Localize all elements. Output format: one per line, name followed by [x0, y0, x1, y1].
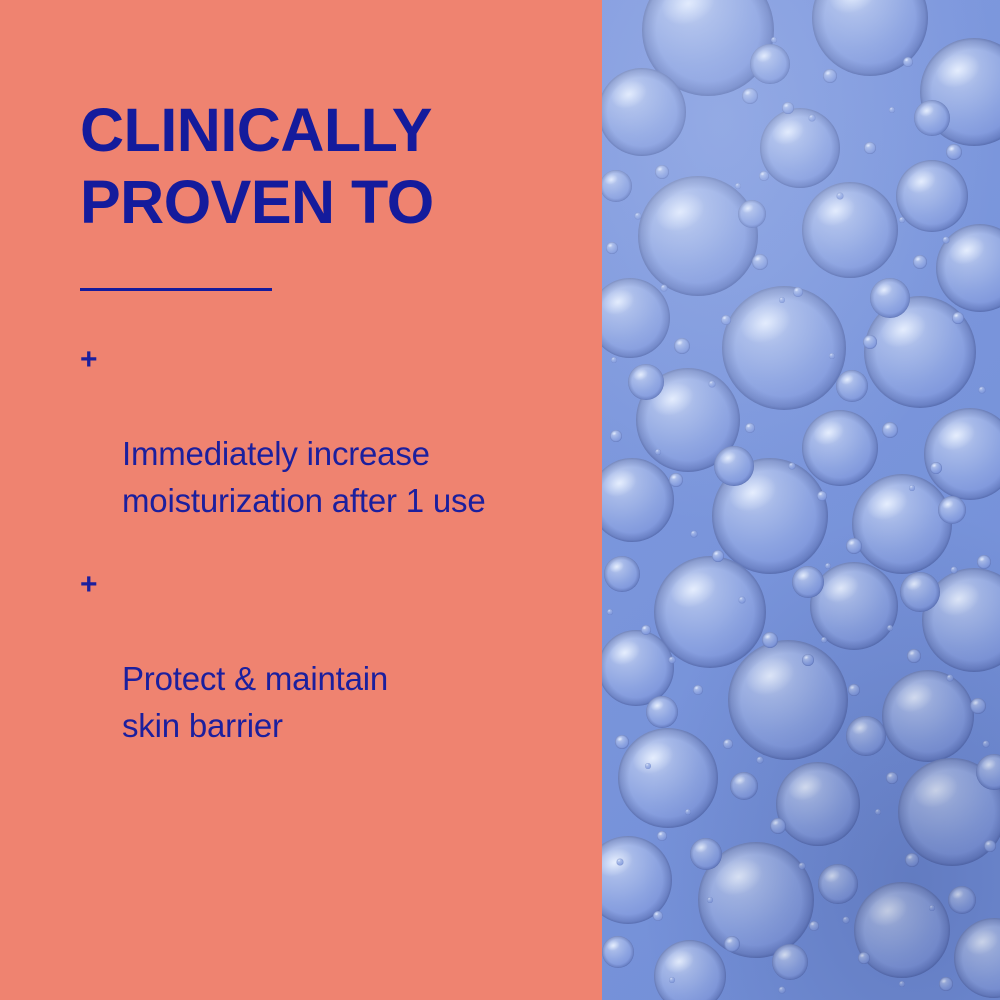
benefit-list: + Immediately increase moisturization af… [80, 336, 580, 749]
copy-panel: CLINICALLY PROVEN TO + Immediately incre… [0, 0, 602, 1000]
list-item: + Protect & maintain skin barrier [80, 561, 580, 749]
page-title: CLINICALLY PROVEN TO [80, 94, 580, 238]
plus-icon: + [80, 561, 110, 608]
clinically-proven-promo-card: CLINICALLY PROVEN TO + Immediately incre… [0, 0, 1000, 1000]
plus-icon: + [80, 336, 110, 383]
list-item: + Immediately increase moisturization af… [80, 336, 580, 524]
title-divider [80, 288, 272, 291]
water-droplets-illustration [602, 0, 1000, 1000]
benefit-text: Immediately increase moisturization afte… [122, 435, 485, 519]
water-droplet-photo [602, 0, 1000, 1000]
benefit-text: Protect & maintain skin barrier [122, 660, 388, 744]
